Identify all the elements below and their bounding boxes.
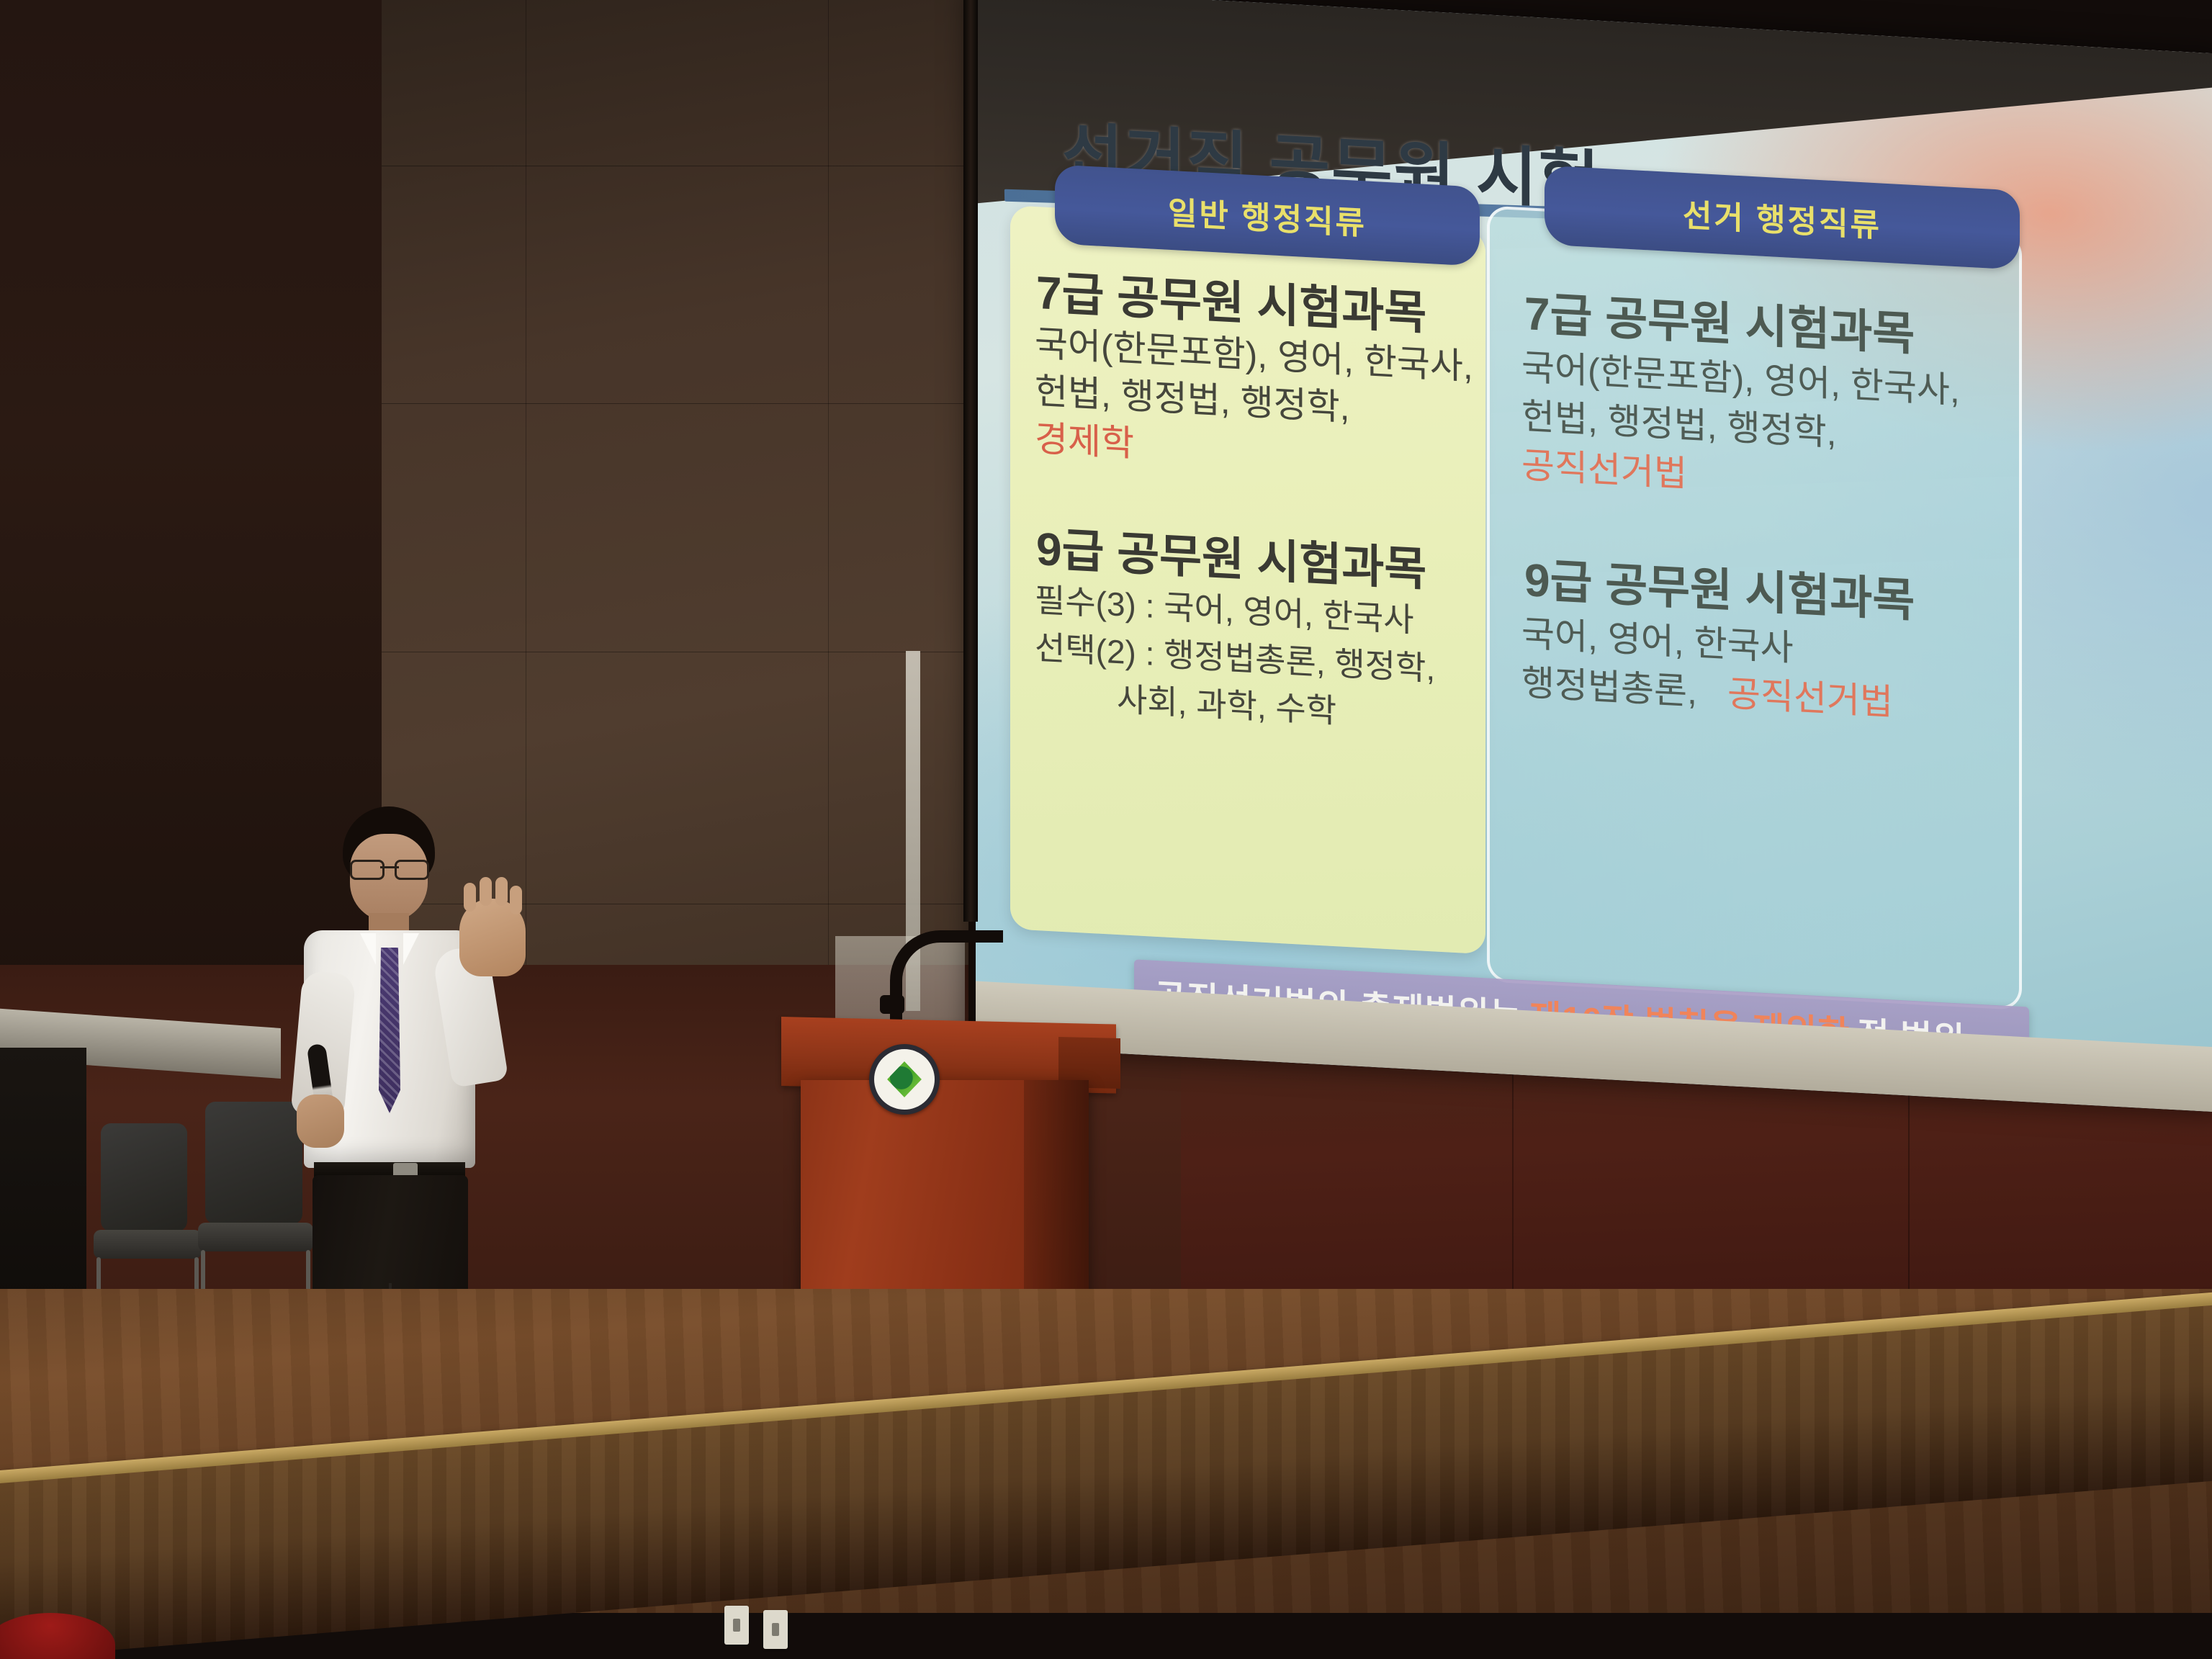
- right-7급-line-3-accent: 공직선거법: [1521, 436, 1687, 497]
- eyeglasses-icon: [350, 860, 429, 876]
- presenter-collar-left: [360, 933, 376, 965]
- panel-election-admin-body: 7급 공무원 시험과목 국어(한문포함), 영어, 한국사, 헌법, 행정법, …: [1487, 205, 2022, 1010]
- power-outlet-icon: [724, 1606, 749, 1645]
- microphone-capsule-icon: [880, 995, 904, 1014]
- presenter-raised-hand: [459, 899, 526, 976]
- lecture-hall-scene: 선거직 공무원 시험 7급 공무원 시험과목 국어(한문포함), 영어, 한국사…: [0, 0, 2212, 1659]
- microphone-stand-pole: [963, 0, 978, 922]
- microphone-gooseneck: [890, 930, 1003, 1022]
- presenter-collar-right: [403, 933, 419, 965]
- right-9급-line-2-accent: 공직선거법: [1727, 665, 1893, 725]
- projection-screen: 선거직 공무원 시험 7급 공무원 시험과목 국어(한문포함), 영어, 한국사…: [968, 0, 2212, 1112]
- right-9급-line-2: 행정법총론,: [1521, 654, 1697, 715]
- presenter-tie: [379, 948, 400, 1113]
- panel-general-admin-body: 7급 공무원 시험과목 국어(한문포함), 영어, 한국사, 헌법, 행정법, …: [1010, 205, 1485, 954]
- podium-emblem-icon: [869, 1044, 940, 1115]
- left-7급-line-3-accent: 경제학: [1035, 410, 1134, 467]
- slide-surface: 선거직 공무원 시험 7급 공무원 시험과목 국어(한문포함), 영어, 한국사…: [976, 0, 2212, 1112]
- power-outlet-icon: [763, 1610, 788, 1649]
- presenter-mic-hand: [297, 1094, 344, 1148]
